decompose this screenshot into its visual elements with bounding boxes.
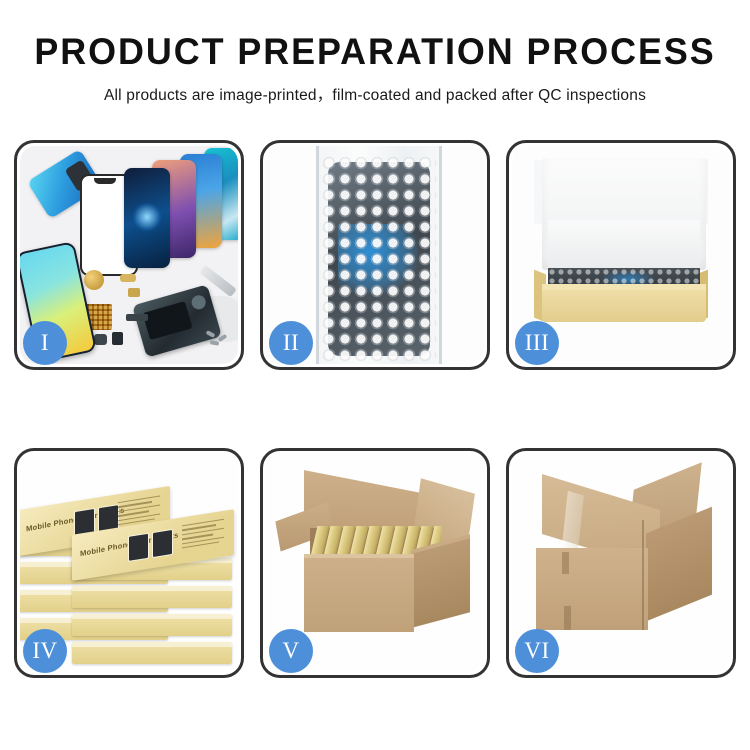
step-badge-1: I: [23, 321, 67, 365]
process-step-panel-3[interactable]: III: [506, 140, 736, 370]
step-badge-3: III: [515, 321, 559, 365]
process-step-panel-1[interactable]: I: [14, 140, 244, 370]
step-badge-4: IV: [23, 629, 67, 673]
screws-icon: [206, 332, 236, 346]
page-title: PRODUCT PREPARATION PROCESS: [11, 30, 739, 74]
page-subtitle: All products are image-printed，film-coat…: [0, 83, 750, 105]
step-badge-6: VI: [515, 629, 559, 673]
header: PRODUCT PREPARATION PROCESS All products…: [0, 0, 750, 105]
step-badge-5: V: [269, 629, 313, 673]
process-panel-grid: I II: [14, 140, 736, 678]
process-step-panel-4[interactable]: Mobile Phone Spare Parts Mobile Phone Sp…: [14, 448, 244, 678]
process-step-panel-2[interactable]: II: [260, 140, 490, 370]
step-badge-2: II: [269, 321, 313, 365]
process-step-panel-6[interactable]: VI: [506, 448, 736, 678]
process-step-panel-5[interactable]: V: [260, 448, 490, 678]
product-preparation-infographic: PRODUCT PREPARATION PROCESS All products…: [0, 0, 750, 750]
